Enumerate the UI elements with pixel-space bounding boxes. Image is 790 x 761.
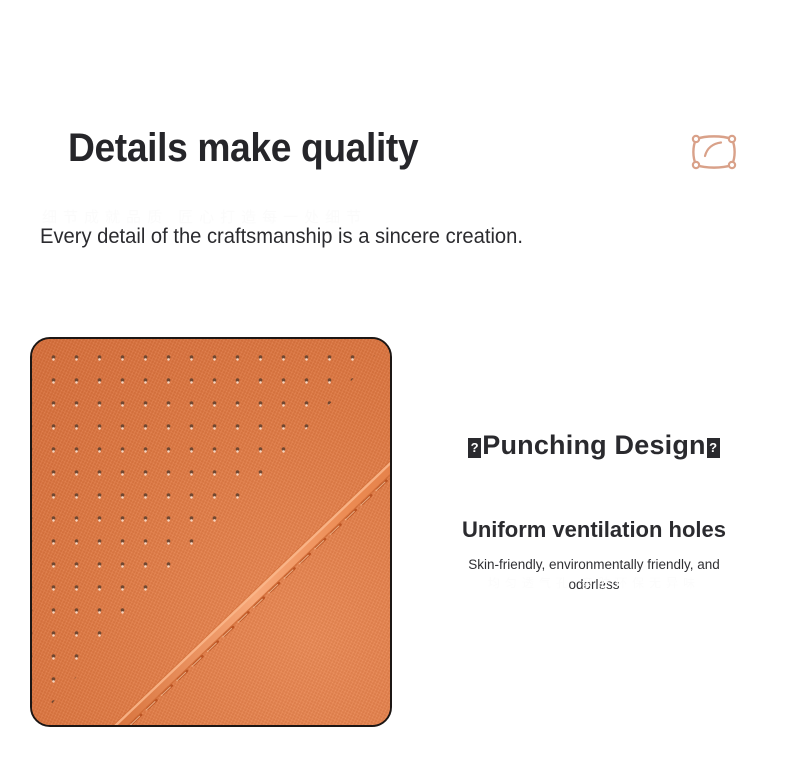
missing-glyph-right: ? bbox=[707, 438, 720, 458]
page-header: Details make quality bbox=[68, 122, 740, 192]
page-subtitle: Every detail of the craftsmanship is a s… bbox=[40, 222, 722, 252]
pillow-icon bbox=[688, 130, 740, 174]
feature-title: ?Punching Design? bbox=[438, 428, 750, 462]
page-title: Details make quality bbox=[68, 122, 693, 174]
intro-block: 细节成就品质 匠心打造每一处细节 Every detail of the cra… bbox=[40, 222, 750, 262]
feature-watermark: 均匀透气孔 亲肤环保无异味 bbox=[438, 574, 750, 591]
missing-glyph-left: ? bbox=[468, 438, 481, 458]
feature-description-line-1: Skin-friendly, environmentally friendly,… bbox=[468, 557, 720, 572]
content-row: ?Punching Design? 均匀透气孔 亲肤环保无异味 Uniform … bbox=[0, 330, 790, 750]
feature-info: ?Punching Design? 均匀透气孔 亲肤环保无异味 Uniform … bbox=[438, 428, 750, 595]
feature-subtitle: Uniform ventilation holes bbox=[438, 462, 750, 545]
product-detail-page: Details make quality 细节成就品质 匠心打造每一处细节 Ev… bbox=[0, 0, 790, 761]
product-image bbox=[30, 337, 392, 727]
feature-title-text: Punching Design bbox=[482, 430, 706, 460]
